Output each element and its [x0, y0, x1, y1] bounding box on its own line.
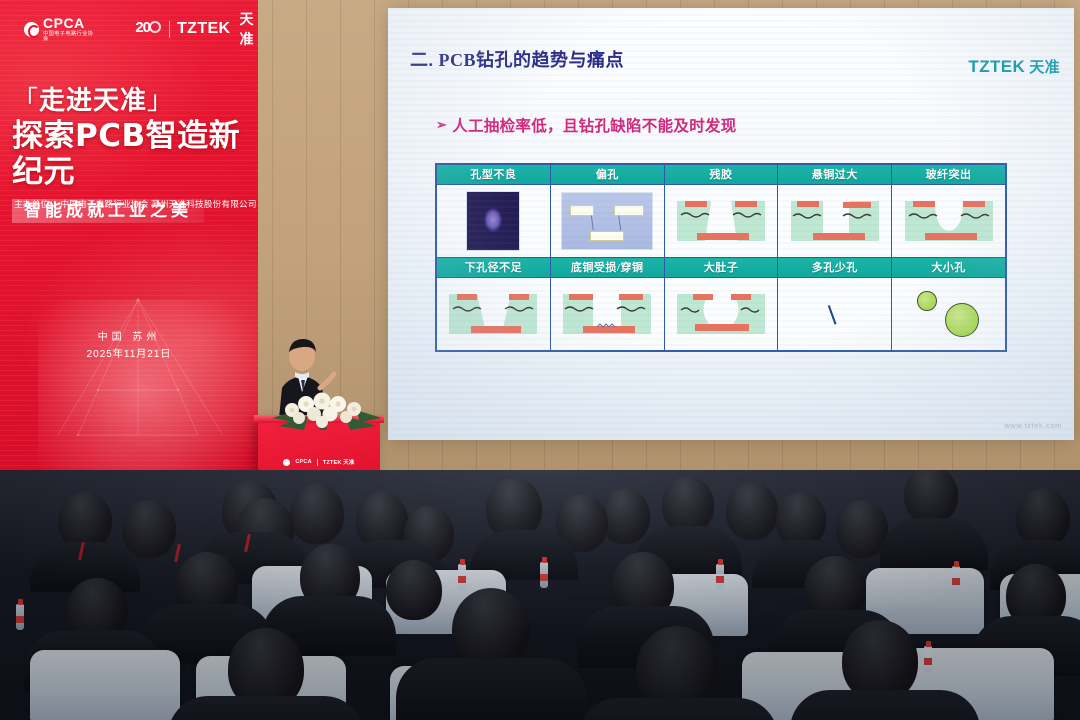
- header-cell: 大小孔: [892, 257, 1006, 277]
- audience-shoulders: [880, 518, 988, 570]
- podium-cpca-mark-icon: [283, 459, 290, 466]
- headline-line-2: 探索PCB智造新纪元: [12, 119, 258, 190]
- slide-bullet-text: 人工抽检率低，且钻孔缺陷不能及时发现: [452, 114, 736, 136]
- headline-bracket-open: 「: [12, 86, 39, 116]
- pcb-section-undersize: [443, 286, 543, 342]
- table-cell: [664, 277, 778, 351]
- header-cell: 残胶: [664, 164, 778, 184]
- podium-logo-row: CPCA TZTEK 天准: [266, 456, 372, 468]
- audience-shoulders: [790, 690, 980, 720]
- cpca-logo: CPCA 中国电子电路行业协会: [24, 16, 93, 42]
- water-bottle: [540, 562, 548, 588]
- header-cell: 底铜受损/穿铜: [550, 257, 664, 277]
- hole-photo-image: [466, 191, 520, 251]
- audience-head: [122, 500, 176, 558]
- slide-logo-cn: 天准: [1029, 56, 1060, 77]
- table-header-row-1: 孔型不良 偏孔 残胶 悬铜过大 玻纤突出: [436, 164, 1006, 184]
- headline-bracket-close: 」: [147, 86, 174, 116]
- banner-logo-row: CPCA 中国电子电路行业协会 20 TZTEK 天准: [0, 12, 258, 46]
- table-cell: [550, 277, 664, 351]
- projection-screen: 二. PCB钻孔的趋势与痛点 TZTEK 天准 ➢ 人工抽检率低，且钻孔缺陷不能…: [388, 8, 1074, 440]
- table-cell: [550, 184, 664, 257]
- slide-logo-en: TZTEK: [968, 57, 1025, 77]
- water-bottle: [16, 604, 24, 630]
- cpca-mark-icon: [24, 22, 39, 37]
- banner-city: 中国 苏州: [0, 328, 258, 343]
- audience-head: [600, 488, 650, 544]
- headline-line-1: 「走进天准」: [12, 88, 258, 114]
- header-cell: 悬铜过大: [778, 164, 892, 184]
- banner-host-line: 主办单位： 中国电子电路行业协会 苏州天准科技股份有限公司: [14, 198, 258, 210]
- audience-shoulders: [396, 658, 586, 720]
- audience-head: [290, 484, 344, 544]
- pcb-section-barrel: [671, 286, 771, 342]
- header-cell: 多孔少孔: [778, 257, 892, 277]
- tztek-logo: 20 TZTEK 天准: [135, 9, 258, 49]
- lanyard: [174, 544, 181, 562]
- audience-head: [386, 560, 442, 620]
- pcb-section-residue: [671, 193, 771, 249]
- cpca-name-cn: 中国电子电路行业协会: [43, 32, 93, 42]
- table-image-row-2: [436, 277, 1006, 351]
- table-cell: [778, 184, 892, 257]
- tztek-name-cn: 天准: [240, 9, 258, 49]
- small-hole-circle: [917, 291, 937, 311]
- table-cell: [892, 277, 1006, 351]
- audience-head: [1016, 488, 1070, 548]
- header-cell: 大肚子: [664, 257, 778, 277]
- two-circles-diagram: [903, 285, 995, 343]
- podium-cpca-label: CPCA: [295, 459, 311, 465]
- slide-bullet: ➢ 人工抽检率低，且钻孔缺陷不能及时发现: [436, 114, 737, 136]
- table-cell: [778, 277, 892, 351]
- tztek-name-en: TZTEK: [177, 20, 231, 38]
- table-header-row-2: 下孔径不足 底铜受损/穿铜 大肚子 多孔少孔 大小孔: [436, 257, 1006, 277]
- scratch-mark: [828, 303, 841, 324]
- slide-title: 二. PCB钻孔的趋势与痛点: [410, 46, 624, 72]
- banner-date: 2025年11月21日: [0, 345, 258, 360]
- header-cell: 孔型不良: [436, 164, 550, 184]
- pcb-section-fiber: [899, 193, 999, 249]
- audience-chair: [30, 650, 180, 720]
- header-cell: 下孔径不足: [436, 257, 550, 277]
- misalignment-diagram: [561, 192, 653, 250]
- audience-shoulders: [168, 696, 364, 720]
- misalignment-lines: [562, 193, 652, 250]
- event-banner: CPCA 中国电子电路行业协会 20 TZTEK 天准 「走进天准」 探索PCB…: [0, 0, 258, 470]
- slide-watermark: www.tztek.com: [1004, 421, 1062, 430]
- water-bottle: [716, 564, 724, 590]
- water-bottle: [458, 564, 466, 590]
- logo-divider: [169, 21, 170, 38]
- header-cell: 玻纤突出: [892, 164, 1006, 184]
- headline-1-text: 走进天准: [39, 86, 147, 116]
- large-hole-circle: [945, 303, 979, 337]
- water-bottle: [924, 646, 932, 672]
- podium-tztek-label: TZTEK 天准: [323, 458, 355, 466]
- audience-area: [0, 470, 1080, 720]
- table-cell: [892, 184, 1006, 257]
- audience-head: [904, 470, 958, 524]
- anniversary-badge-icon: 20: [135, 19, 162, 39]
- bullet-arrow-icon: ➢: [436, 117, 447, 133]
- pcb-section-copper-damage: [557, 286, 657, 342]
- podium-logo-divider: [317, 459, 318, 466]
- flower-arrangement: [268, 388, 386, 432]
- audience-head: [726, 482, 778, 540]
- cpca-name-en: CPCA: [43, 16, 93, 30]
- slide-tztek-logo: TZTEK 天准: [968, 56, 1060, 77]
- conference-photo: CPCA 中国电子电路行业协会 20 TZTEK 天准 「走进天准」 探索PCB…: [0, 0, 1080, 720]
- audience-shoulders: [578, 698, 778, 720]
- anniversary-number: 20: [135, 20, 150, 35]
- table-cell: [436, 184, 550, 257]
- table-cell: [436, 277, 550, 351]
- pcb-section-overhang: [785, 193, 885, 249]
- table-cell: [664, 184, 778, 257]
- anniversary-ring-icon: [149, 21, 161, 33]
- header-cell: 偏孔: [550, 164, 664, 184]
- defect-table: 孔型不良 偏孔 残胶 悬铜过大 玻纤突出: [435, 163, 1007, 352]
- water-bottle: [952, 566, 960, 592]
- table-image-row-1: [436, 184, 1006, 257]
